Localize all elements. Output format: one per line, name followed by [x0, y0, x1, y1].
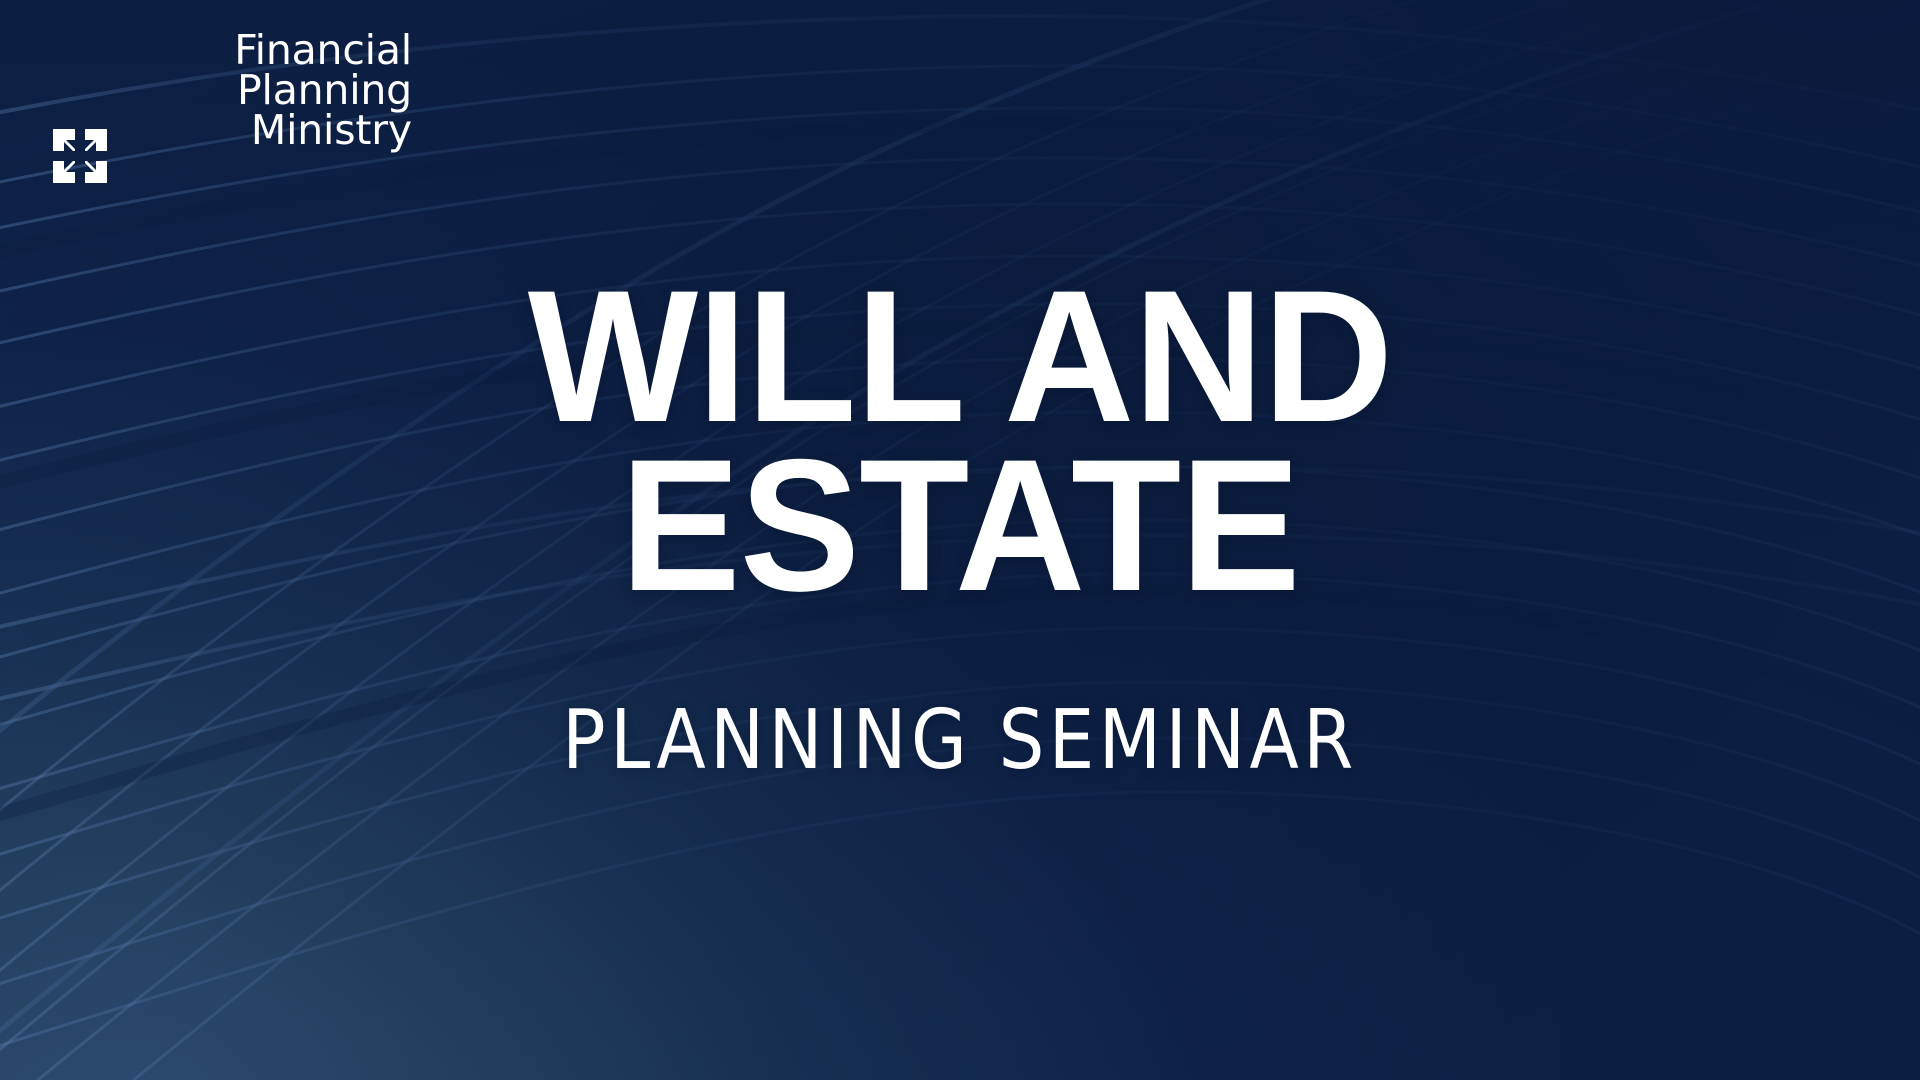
brand-line-planning: Planning: [237, 70, 412, 110]
brand-logo: Financial Planning Ministry: [72, 30, 412, 151]
brand-line-ministry: Ministry: [251, 110, 412, 150]
seminar-title-slide: Financial Planning Ministry WILL AND: [0, 0, 1920, 1080]
page-title: WILL AND ESTATE: [0, 272, 1920, 610]
page-subtitle: PLANNING SEMINAR: [115, 700, 1805, 782]
brand-wordmark: Financial Planning Ministry: [72, 30, 412, 151]
brand-line-financial: Financial: [234, 30, 412, 70]
headline-line-1: WILL AND: [38, 272, 1881, 441]
headline-line-2: ESTATE: [38, 441, 1881, 610]
pinwheel-icon: [50, 126, 110, 186]
